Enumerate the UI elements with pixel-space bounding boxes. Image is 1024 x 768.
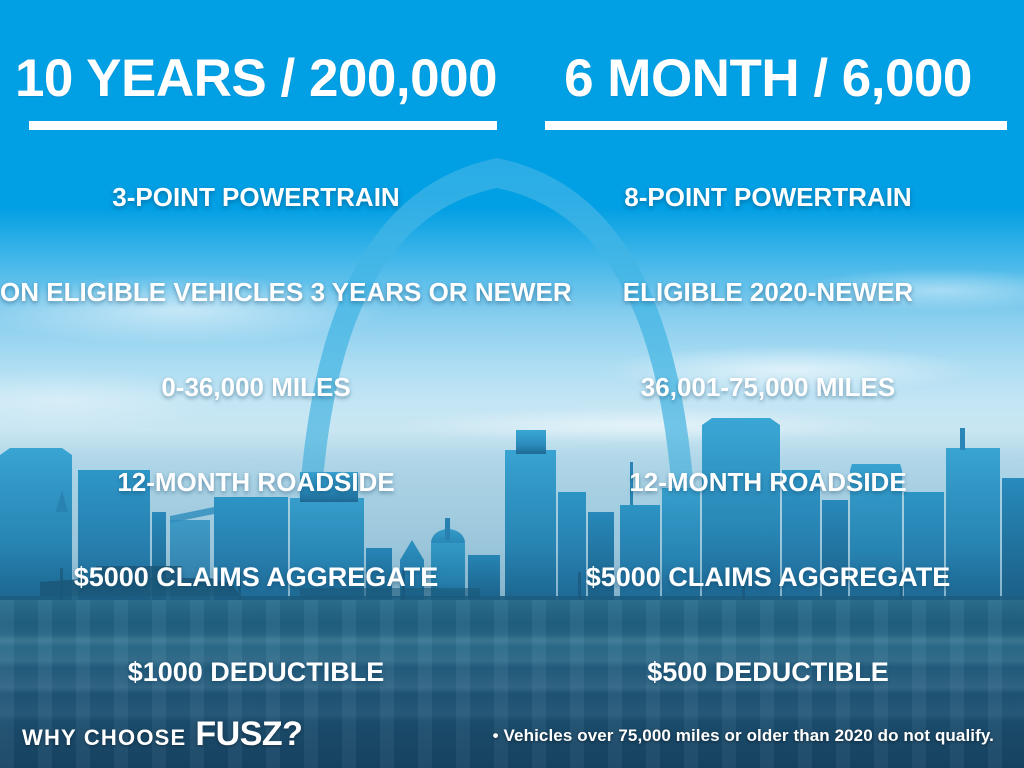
fusz-logo: WHY CHOOSE FUSZ?	[22, 715, 302, 754]
column-headers: 10 YEARS / 200,000 6 MONTH / 6,000	[0, 52, 1024, 130]
benefit-cell-left: 3-POINT POWERTRAIN	[0, 182, 512, 213]
promo-graphic: 10 YEARS / 200,000 6 MONTH / 6,000 3-POI…	[0, 0, 1024, 768]
benefit-row: ON ELIGIBLE VEHICLES 3 YEARS OR NEWER EL…	[0, 245, 1024, 340]
benefit-cell-left: 0-36,000 MILES	[0, 372, 512, 403]
benefit-cell-left: $5000 CLAIMS AGGREGATE	[0, 562, 512, 593]
benefit-cell-left: 12-MONTH ROADSIDE	[0, 467, 512, 498]
column-header-right: 6 MONTH / 6,000	[512, 52, 1024, 130]
logo-prefix-label: WHY CHOOSE	[22, 725, 186, 751]
disclaimer-text: • Vehicles over 75,000 miles or older th…	[493, 726, 994, 746]
benefit-row: 0-36,000 MILES 36,001-75,000 MILES	[0, 340, 1024, 435]
benefit-row: 12-MONTH ROADSIDE 12-MONTH ROADSIDE	[0, 435, 1024, 530]
benefit-cell-right: 36,001-75,000 MILES	[512, 372, 1024, 403]
footer: WHY CHOOSE FUSZ? • Vehicles over 75,000 …	[0, 706, 1024, 768]
logo-wordmark: FUSZ?	[195, 715, 302, 754]
benefit-row: $5000 CLAIMS AGGREGATE $5000 CLAIMS AGGR…	[0, 530, 1024, 625]
benefit-rows: 3-POINT POWERTRAIN 8-POINT POWERTRAIN ON…	[0, 150, 1024, 720]
benefit-cell-right: 12-MONTH ROADSIDE	[512, 467, 1024, 498]
benefit-cell-right: ELIGIBLE 2020-NEWER	[512, 277, 1024, 308]
column-header-left: 10 YEARS / 200,000	[0, 52, 512, 130]
benefit-cell-left: $1000 DEDUCTIBLE	[0, 657, 512, 688]
header-label-left: 10 YEARS / 200,000	[0, 52, 512, 105]
header-underline-left	[29, 121, 497, 130]
benefit-row: 3-POINT POWERTRAIN 8-POINT POWERTRAIN	[0, 150, 1024, 245]
benefit-cell-left: ON ELIGIBLE VEHICLES 3 YEARS OR NEWER	[0, 277, 512, 308]
benefit-cell-right: 8-POINT POWERTRAIN	[512, 182, 1024, 213]
benefit-cell-right: $5000 CLAIMS AGGREGATE	[512, 562, 1024, 593]
header-underline-right	[545, 121, 1007, 130]
header-label-right: 6 MONTH / 6,000	[512, 52, 1024, 105]
benefit-cell-right: $500 DEDUCTIBLE	[512, 657, 1024, 688]
